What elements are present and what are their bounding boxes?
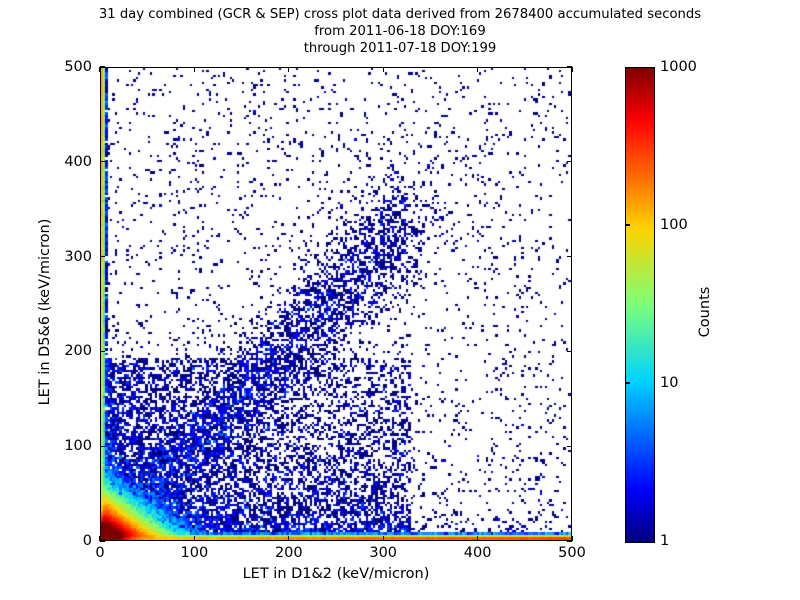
- title-line-1: 31 day combined (GCR & SEP) cross plot d…: [0, 6, 800, 23]
- y-axis-label: LET in D5&6 (keV/micron): [37, 162, 53, 462]
- y-ticklabel-300: 300: [64, 249, 92, 265]
- y-tick-0: [567, 540, 572, 541]
- y-tick-200: [100, 351, 105, 352]
- x-ticklabel-300: 300: [369, 545, 397, 561]
- y-tick-100: [100, 446, 105, 447]
- y-tick-0: [100, 540, 105, 541]
- y-tick-400: [567, 161, 572, 162]
- y-tick-300: [100, 256, 105, 257]
- x-tick-400: [477, 67, 478, 72]
- colorbar-ticklabel-10: 10: [660, 375, 678, 391]
- y-ticklabel-500: 500: [64, 59, 92, 75]
- colorbar: [625, 67, 653, 541]
- y-tick-500: [100, 66, 105, 67]
- colorbar-ticklabel-1: 1: [660, 533, 669, 549]
- x-ticklabel-200: 200: [275, 545, 303, 561]
- plot-area: [100, 67, 572, 541]
- y-ticklabel-0: 0: [83, 533, 92, 549]
- colorbar-tick-100: [625, 224, 630, 225]
- scatter-density-canvas: [101, 68, 571, 540]
- x-ticklabel-500: 500: [558, 545, 586, 561]
- x-tick-300: [383, 536, 384, 541]
- colorbar-label: Counts: [697, 212, 713, 412]
- colorbar-ticklabel-1000: 1000: [660, 59, 697, 75]
- y-tick-300: [567, 256, 572, 257]
- figure: 31 day combined (GCR & SEP) cross plot d…: [0, 0, 800, 600]
- x-tick-500: [571, 67, 572, 72]
- chart-title: 31 day combined (GCR & SEP) cross plot d…: [0, 6, 800, 57]
- x-tick-0: [99, 67, 100, 72]
- y-tick-500: [567, 66, 572, 67]
- x-tick-200: [288, 67, 289, 72]
- y-tick-100: [567, 446, 572, 447]
- title-line-3: through 2011-07-18 DOY:199: [0, 40, 800, 57]
- x-axis-label: LET in D1&2 (keV/micron): [100, 566, 572, 582]
- y-ticklabel-100: 100: [64, 438, 92, 454]
- title-line-2: from 2011-06-18 DOY:169: [0, 23, 800, 40]
- y-tick-400: [100, 161, 105, 162]
- y-tick-200: [567, 351, 572, 352]
- colorbar-ticklabel-100: 100: [660, 217, 688, 233]
- y-ticklabel-200: 200: [64, 343, 92, 359]
- colorbar-gradient: [625, 67, 655, 543]
- x-tick-400: [477, 536, 478, 541]
- x-tick-300: [383, 67, 384, 72]
- x-ticklabel-400: 400: [464, 545, 492, 561]
- x-tick-200: [288, 536, 289, 541]
- x-tick-100: [194, 67, 195, 72]
- y-ticklabel-400: 400: [64, 154, 92, 170]
- x-ticklabel-0: 0: [95, 545, 104, 561]
- x-ticklabel-100: 100: [181, 545, 209, 561]
- x-tick-100: [194, 536, 195, 541]
- colorbar-tick-10: [625, 382, 630, 383]
